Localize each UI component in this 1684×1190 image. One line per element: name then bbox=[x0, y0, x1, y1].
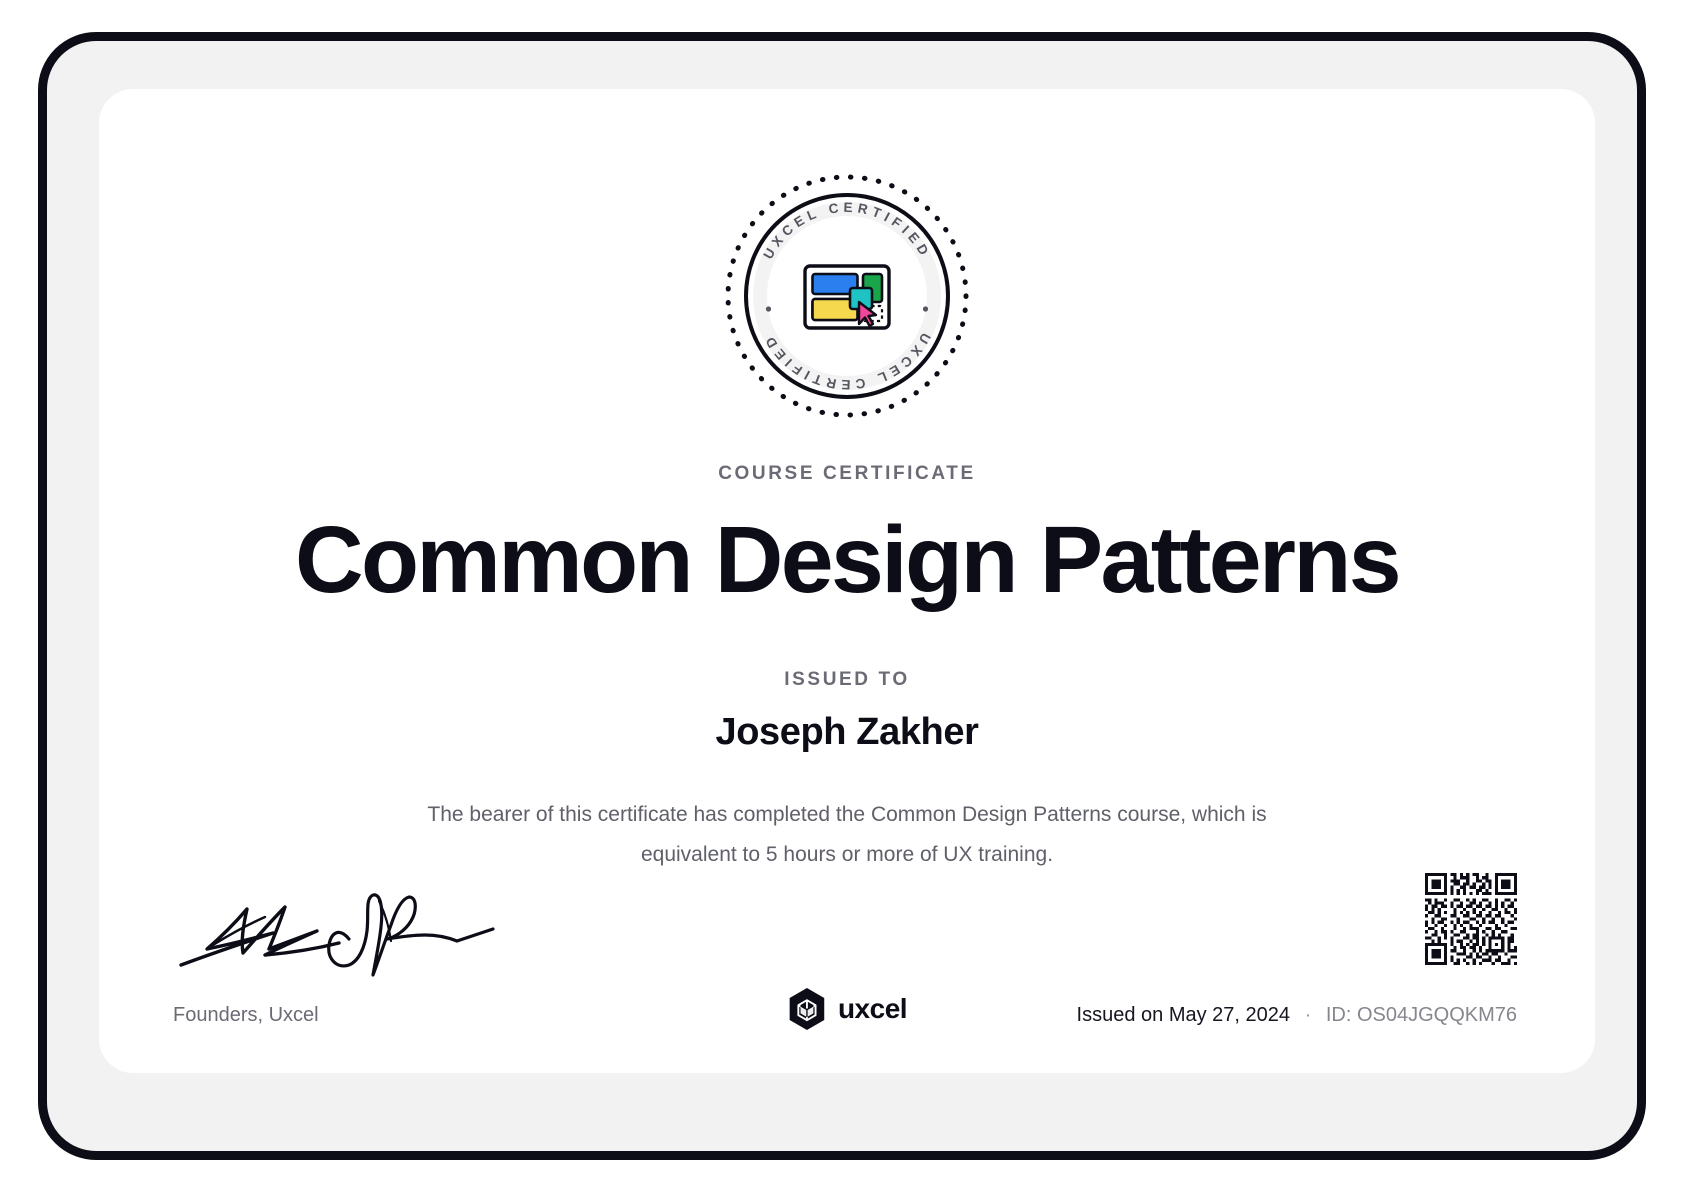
certificate-id: ID: OS04JGQQKM76 bbox=[1326, 1004, 1517, 1026]
issued-to-label: ISSUED TO bbox=[99, 669, 1595, 691]
issue-metadata: Issued on May 27, 2024 · ID: OS04JGQQKM7… bbox=[1077, 1004, 1517, 1027]
certificate-footer: Founders, Uxcel bbox=[99, 833, 1595, 1073]
issued-on-date: Issued on May 27, 2024 bbox=[1077, 1004, 1290, 1026]
page-title: Common Design Patterns bbox=[99, 505, 1595, 615]
uxcel-hexagon-logo-icon bbox=[787, 987, 827, 1031]
certification-seal: UXCEL CERTIFIED UXCEL CERTIFIED bbox=[720, 169, 974, 423]
uxcel-brand: uxcel bbox=[787, 987, 907, 1031]
uxcel-brand-name: uxcel bbox=[838, 993, 907, 1025]
meta-separator: · bbox=[1305, 1004, 1312, 1026]
description-line-1: The bearer of this certificate has compl… bbox=[427, 803, 1111, 826]
certificate-frame: UXCEL CERTIFIED UXCEL CERTIFIED bbox=[38, 32, 1646, 1160]
design-patterns-layout-icon bbox=[805, 266, 889, 328]
course-certificate-label: COURSE CERTIFICATE bbox=[99, 463, 1595, 485]
verification-qr-code[interactable] bbox=[1425, 873, 1517, 965]
founders-label: Founders, Uxcel bbox=[173, 1004, 319, 1027]
recipient-name: Joseph Zakher bbox=[99, 711, 1595, 754]
certificate-card: UXCEL CERTIFIED UXCEL CERTIFIED bbox=[99, 89, 1595, 1073]
founders-signatures bbox=[173, 887, 503, 977]
